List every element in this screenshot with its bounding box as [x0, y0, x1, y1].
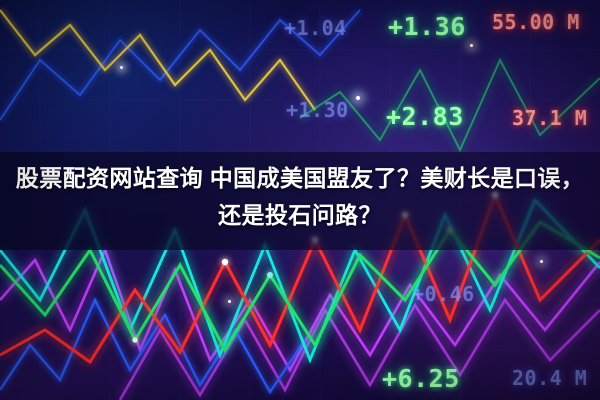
ticker-value-5: +2.83 [386, 102, 464, 131]
ticker-value-3: 55.00 M [492, 10, 580, 34]
ticker-value-2: +1.36 [388, 12, 466, 41]
ticker-value-9: 20.4 M [512, 366, 587, 390]
chart-line-yellow [0, 10, 315, 110]
ticker-value-8: +6.25 [382, 364, 460, 393]
news-banner-image: +1.04 +1.36 55.00 M +1.30 +2.83 37.1 M +… [0, 0, 600, 400]
headline-text: 股票配资网站查询 中国成美国盟友了？美财长是口误，还是投石问路？ [12, 160, 588, 234]
ticker-value-1: +1.04 [284, 16, 347, 40]
ticker-value-6: 37.1 M [512, 106, 587, 130]
ticker-value-7: +0.46 [412, 282, 475, 306]
ticker-value-4: +1.30 [286, 98, 349, 122]
